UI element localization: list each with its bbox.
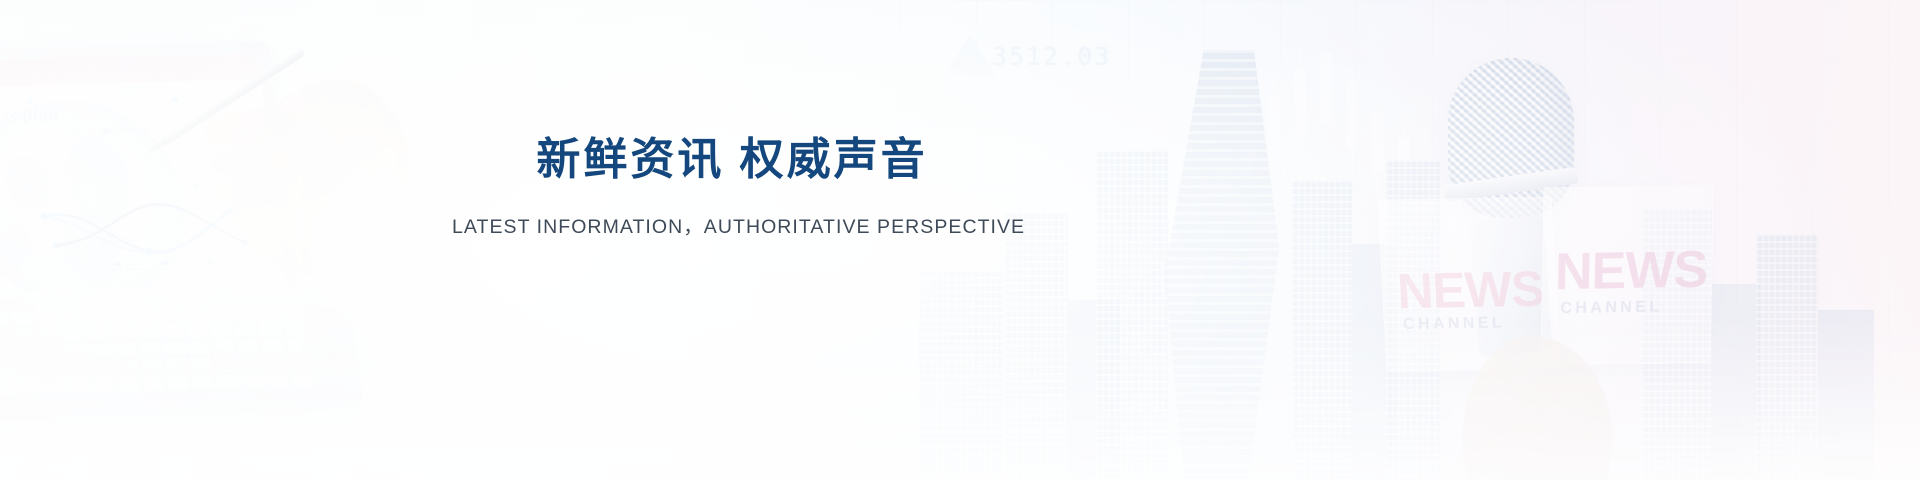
news-banner: business plan it's about creating the to…	[0, 0, 1920, 480]
svg-text:Series 2: Series 2	[171, 260, 190, 266]
building	[918, 270, 1004, 480]
building	[1292, 180, 1352, 480]
svg-text:2: 2	[162, 275, 166, 281]
laptop-illustration: business plan it's about creating the to…	[0, 16, 383, 464]
building	[1096, 150, 1168, 480]
svg-text:Series 3: Series 3	[217, 259, 236, 265]
page-title: 新鲜资讯 权威声音	[452, 136, 1012, 184]
stock-ticker-value: 3512.03	[992, 42, 1111, 71]
svg-text:1.5: 1.5	[110, 276, 118, 282]
news-flag-card: NEWS CHANNEL	[1540, 185, 1713, 366]
svg-text:2.5: 2.5	[200, 274, 208, 280]
cityscape-illustration: 3512.03 1180 02% NEWS CHANNEL NEWS CHAN	[900, 0, 1920, 480]
microphone-illustration: NEWS CHANNEL NEWS CHANNEL	[1400, 50, 1660, 480]
building	[1004, 212, 1068, 480]
svg-text:0.5: 0.5	[12, 279, 20, 285]
svg-text:Series 1: Series 1	[124, 261, 143, 267]
news-label: NEWS	[1396, 260, 1545, 320]
news-label: NEWS	[1555, 240, 1708, 303]
channel-label: CHANNEL	[1403, 314, 1506, 334]
building	[1818, 310, 1874, 480]
laptop-base	[0, 284, 364, 420]
channel-label: CHANNEL	[1560, 298, 1662, 318]
svg-text:1: 1	[72, 277, 76, 283]
page-subtitle: LATEST INFORMATION，AUTHORITATIVE PERSPEC…	[452, 210, 1012, 239]
up-triangle-icon	[944, 34, 996, 76]
laptop-keyboard	[0, 303, 313, 395]
building	[1712, 284, 1760, 480]
banner-copy: 新鲜资讯 权威声音 LATEST INFORMATION，AUTHORITATI…	[452, 136, 1012, 239]
percent-value: 02%	[1794, 418, 1842, 444]
svg-text:3: 3	[253, 272, 257, 278]
secondary-ticker-value: 1180	[1700, 416, 1744, 434]
